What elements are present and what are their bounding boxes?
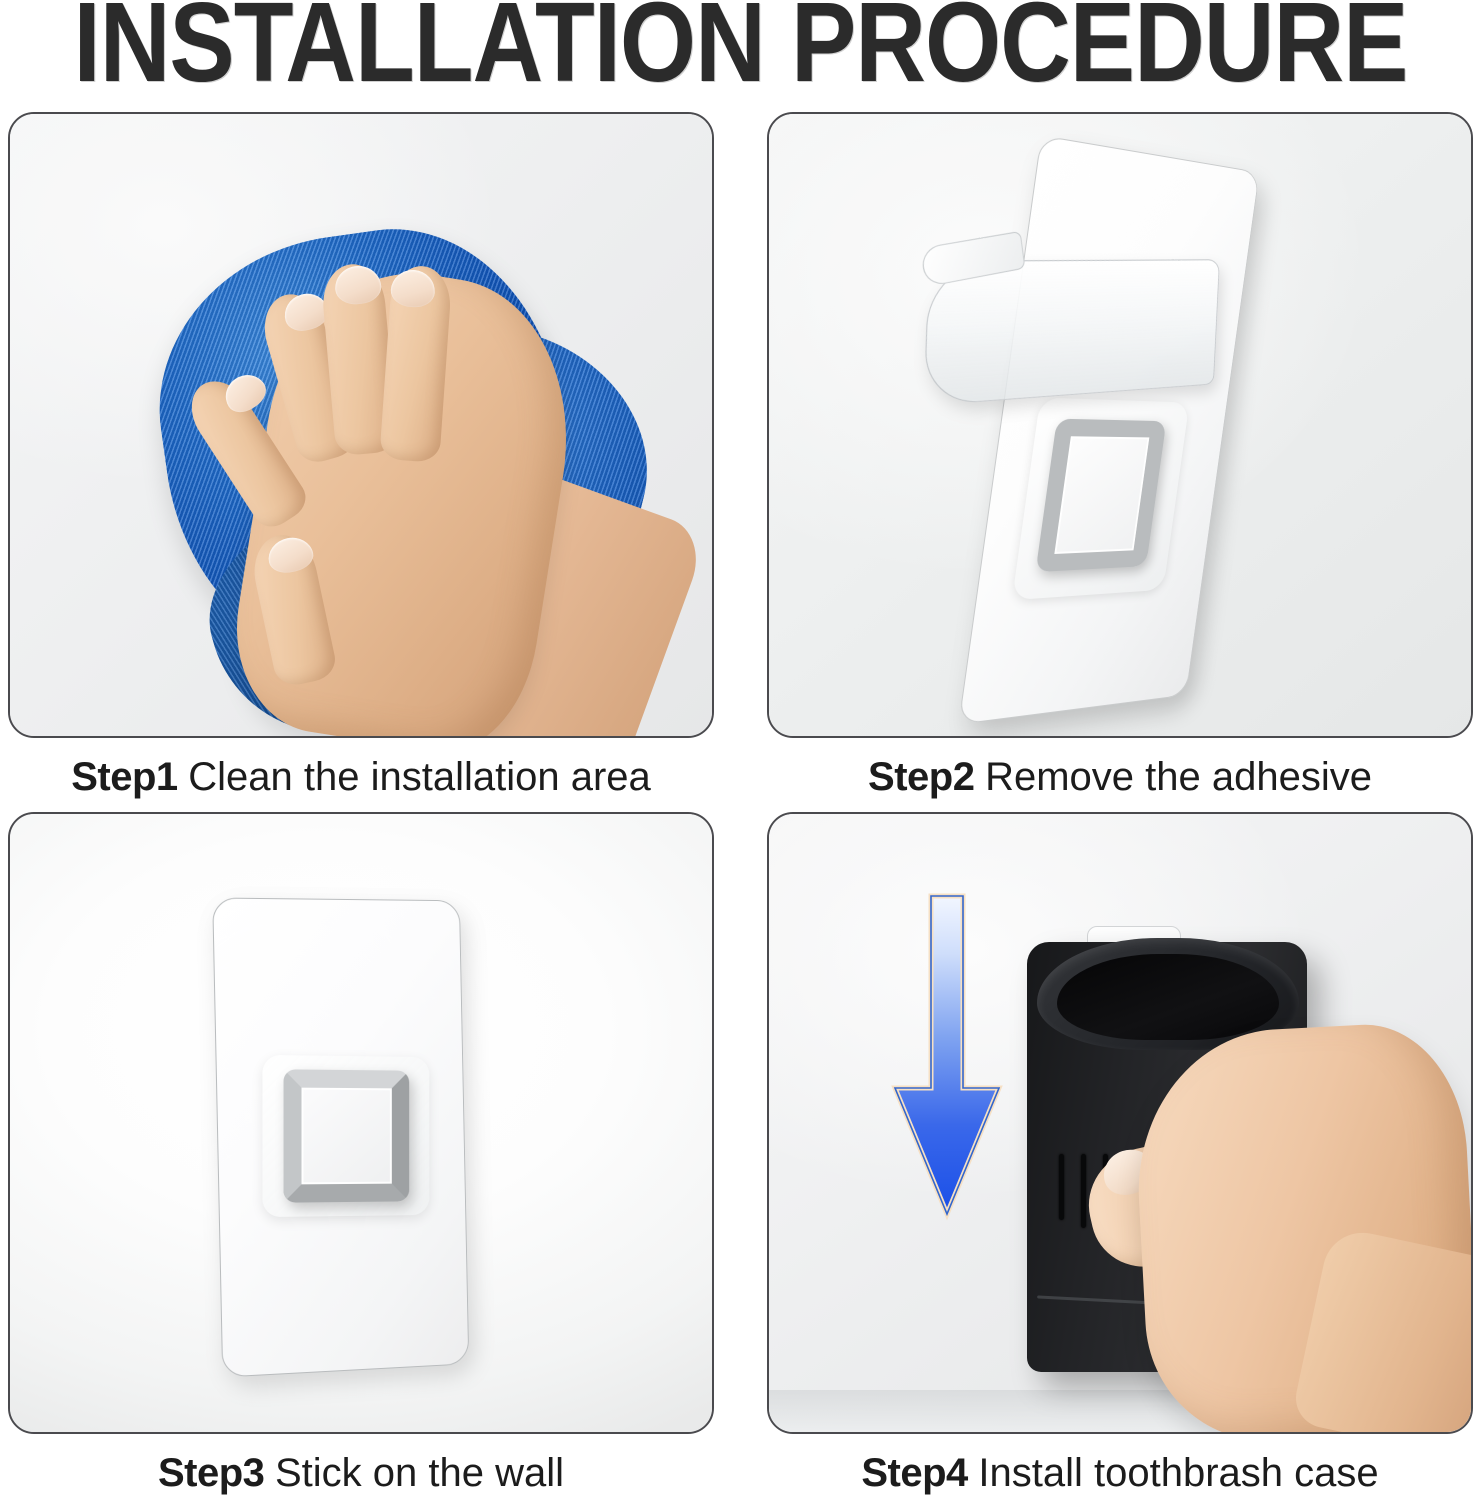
step-1-caption: Step1 Clean the installation area [8,754,714,800]
step-3-caption: Step3 Stick on the wall [8,1450,714,1496]
square-hook-bracket [1035,419,1166,573]
step-card-4: Step4 Install toothbrash case [767,812,1473,1496]
step-1-text: Clean the installation area [188,755,651,799]
adhesive-backing-film [924,259,1220,406]
step-3-number: Step3 [158,1451,275,1495]
down-arrow-icon [887,892,1007,1222]
step-1-number: Step1 [71,755,188,799]
step-2-number: Step2 [868,755,985,799]
drainage-slot [1081,1154,1086,1228]
step-4-caption: Step4 Install toothbrash case [767,1450,1473,1496]
step-2-text: Remove the adhesive [985,755,1372,799]
step-2-caption: Step2 Remove the adhesive [767,754,1473,800]
step-3-text: Stick on the wall [275,1451,564,1495]
step-3-image-panel [8,812,714,1434]
drainage-slot [1059,1154,1064,1220]
step-card-1: Step1 Clean the installation area [8,112,714,800]
step-2-image-panel [767,112,1473,738]
case-opening [1057,954,1279,1040]
square-hook-bracket [284,1069,410,1202]
step-4-text: Install toothbrash case [978,1451,1378,1495]
steps-grid: Step1 Clean the installation area Step2 … [8,112,1473,1492]
step-card-2: Step2 Remove the adhesive [767,112,1473,800]
page-title: INSTALLATION PROCEDURE [0,0,1481,100]
step-4-number: Step4 [861,1451,978,1495]
step-4-image-panel [767,812,1473,1434]
step-1-image-panel [8,112,714,738]
step-card-3: Step3 Stick on the wall [8,812,714,1496]
